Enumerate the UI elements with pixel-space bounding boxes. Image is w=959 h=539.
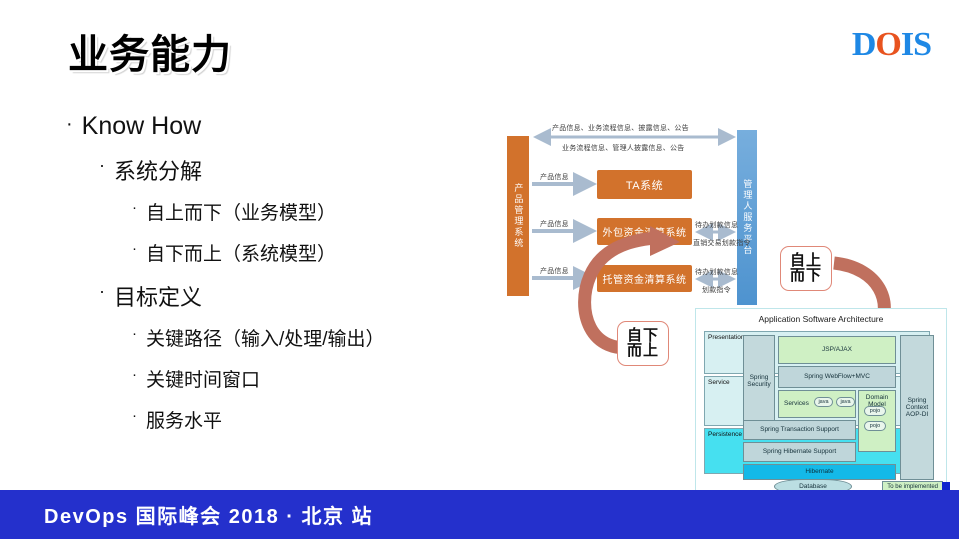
- layer-label-persistence: Persistence: [706, 430, 744, 439]
- logo-letter-is: IS: [901, 26, 931, 63]
- application-architecture-diagram: Application Software Architecture Presen…: [695, 308, 947, 496]
- bullet-level3-critical-path: · 关键路径（输入/处理/输出）: [132, 324, 486, 351]
- slide-footer: DevOps 国际峰会 2018 · 北京 站: [0, 490, 959, 539]
- bullet-marker-icon: ·: [132, 324, 137, 344]
- bullet-level3-label: 自上而下（业务模型）: [146, 198, 336, 225]
- bullet-level3-label: 自下而上（系统模型）: [146, 239, 336, 266]
- flow-label-right-2: 直销交易划款指令: [693, 238, 751, 248]
- bullet-marker-icon: ·: [132, 365, 137, 385]
- custody-fund-settlement-box: 托管资金清算系统: [597, 265, 692, 292]
- flow-label-right-3: 待办划款信息: [695, 267, 738, 277]
- bullet-level1-label: Know How: [82, 112, 202, 141]
- callout-bottom-up: 自下 而上: [617, 321, 669, 366]
- spring-webflow-mvc-box: Spring WebFlow+MVC: [778, 366, 896, 388]
- hibernate-box: Hibernate: [743, 464, 896, 480]
- flow-label-right-1: 待办划款信息: [695, 220, 738, 230]
- pojo-pill-2: pojo: [864, 421, 886, 431]
- callout-top-down: 自上 而下: [780, 246, 832, 291]
- bullet-list: · Know How · 系统分解 · 自上而下（业务模型） · 自下而上（系统…: [66, 112, 486, 447]
- bullet-marker-icon: ·: [132, 239, 137, 259]
- bullet-marker-icon: ·: [99, 280, 105, 303]
- architecture-title: Application Software Architecture: [696, 314, 946, 324]
- layer-label-presentation: Presentation: [706, 333, 747, 342]
- page-title: 业务能力: [68, 22, 232, 80]
- bullet-level2-system-decomposition: · 系统分解: [99, 154, 486, 186]
- bullet-level3-label: 关键时间窗口: [146, 365, 260, 392]
- bullet-marker-icon: ·: [66, 112, 73, 137]
- spring-context-aop-di-box: Spring Context AOP-DI: [900, 335, 934, 480]
- java-pill-1: java: [814, 397, 833, 407]
- callout-bottom-up-line2: 而上: [627, 342, 659, 359]
- bullet-level1-know-how: · Know How: [66, 112, 486, 141]
- dois-logo: DOIS: [852, 26, 931, 64]
- outsourcing-fund-settlement-box: 外包资金清算系统: [597, 218, 692, 245]
- spring-hibernate-support-box: Spring Hibernate Support: [743, 442, 856, 462]
- jsp-ajax-box: JSP/AJAX: [778, 336, 896, 364]
- bullet-level3-top-down: · 自上而下（业务模型）: [132, 198, 486, 225]
- ta-system-box: TA系统: [597, 170, 692, 199]
- flow-label-left-2: 产品信息: [540, 219, 569, 229]
- business-flow-diagram: 产品管理系统 管理人服务平台 TA系统 外包资金清算系统 托管资金清算系统 产品…: [490, 108, 790, 308]
- logo-letter-o: O: [875, 26, 900, 63]
- flow-label-top-1: 产品信息、业务流程信息、披露信息、公告: [552, 123, 689, 133]
- bullet-level3-label: 服务水平: [146, 406, 222, 433]
- footer-text: DevOps 国际峰会 2018 · 北京 站: [44, 500, 373, 529]
- layer-label-service: Service: [706, 378, 732, 387]
- bullet-level3-label: 关键路径（输入/处理/输出）: [146, 324, 385, 351]
- flow-label-left-1: 产品信息: [540, 172, 569, 182]
- pojo-pill-1: pojo: [864, 406, 886, 416]
- flow-label-left-3: 产品信息: [540, 266, 569, 276]
- bullet-marker-icon: ·: [132, 198, 137, 218]
- flow-label-top-2: 业务流程信息、管理人披露信息、公告: [562, 143, 684, 153]
- bullet-level3-time-window: · 关键时间窗口: [132, 365, 486, 392]
- logo-letter-d: D: [852, 26, 876, 63]
- bullet-level3-bottom-up: · 自下而上（系统模型）: [132, 239, 486, 266]
- bullet-marker-icon: ·: [132, 406, 137, 426]
- flow-label-right-4: 划款指令: [702, 285, 731, 295]
- bullet-level2-goal-definition: · 目标定义: [99, 280, 486, 312]
- bullet-level2-label: 系统分解: [114, 154, 202, 186]
- product-management-system-box: 产品管理系统: [507, 136, 529, 296]
- diagram-region: 产品管理系统 管理人服务平台 TA系统 外包资金清算系统 托管资金清算系统 产品…: [490, 108, 950, 500]
- slide-canvas: 业务能力 DOIS · Know How · 系统分解 · 自上而下（业务模型）…: [0, 0, 959, 539]
- java-pill-2: java: [836, 397, 855, 407]
- bullet-level3-service-level: · 服务水平: [132, 406, 486, 433]
- bullet-level2-label: 目标定义: [114, 280, 202, 312]
- callout-top-down-line2: 而下: [790, 267, 822, 284]
- spring-transaction-support-box: Spring Transaction Support: [743, 420, 856, 440]
- spring-security-box: Spring Security: [743, 335, 775, 427]
- bullet-marker-icon: ·: [99, 154, 105, 177]
- manager-service-platform-box: 管理人服务平台: [737, 130, 757, 305]
